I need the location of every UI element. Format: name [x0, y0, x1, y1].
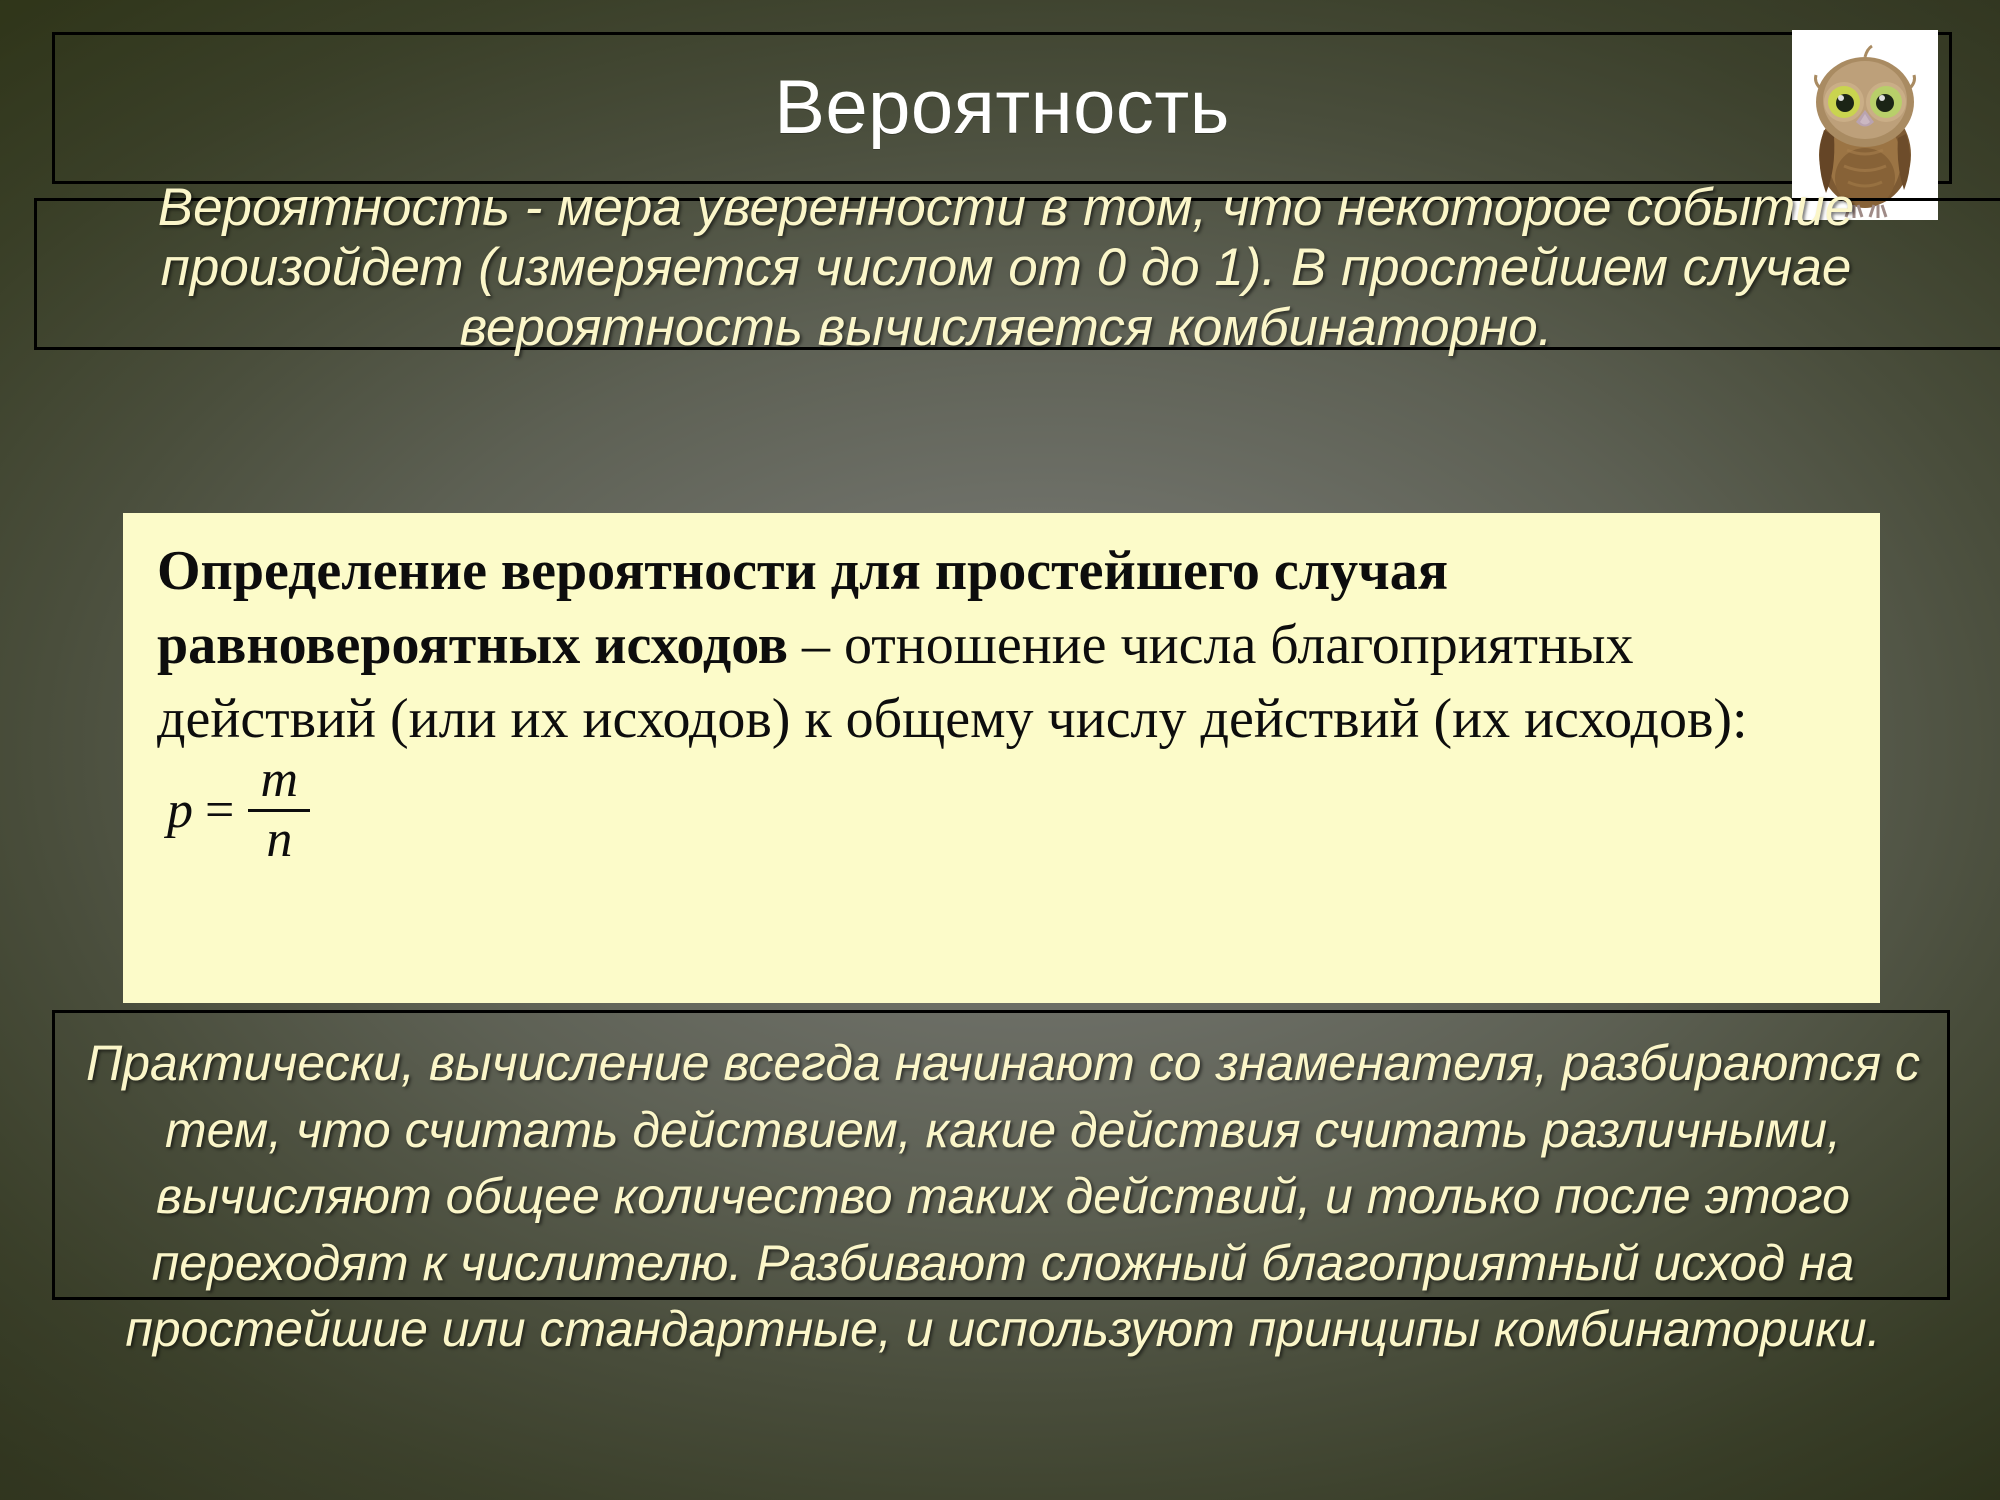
formula-lhs: p	[167, 777, 193, 846]
formula-equals: =	[205, 777, 234, 846]
definition-panel: Определение вероятности для простейшего …	[123, 513, 1880, 1003]
probability-formula: p=mn	[167, 757, 310, 867]
slide-canvas: Вероятность	[0, 0, 2000, 1500]
page-title: Вероятность	[52, 32, 1952, 184]
formula-denominator: n	[256, 815, 302, 865]
formula-fraction: mn	[248, 755, 310, 865]
practice-paragraph: Практически, вычисление всегда начинают …	[58, 1030, 1948, 1363]
formula-numerator: m	[251, 755, 309, 805]
intro-paragraph: Вероятность - мера уверенности в том, чт…	[46, 178, 1966, 358]
